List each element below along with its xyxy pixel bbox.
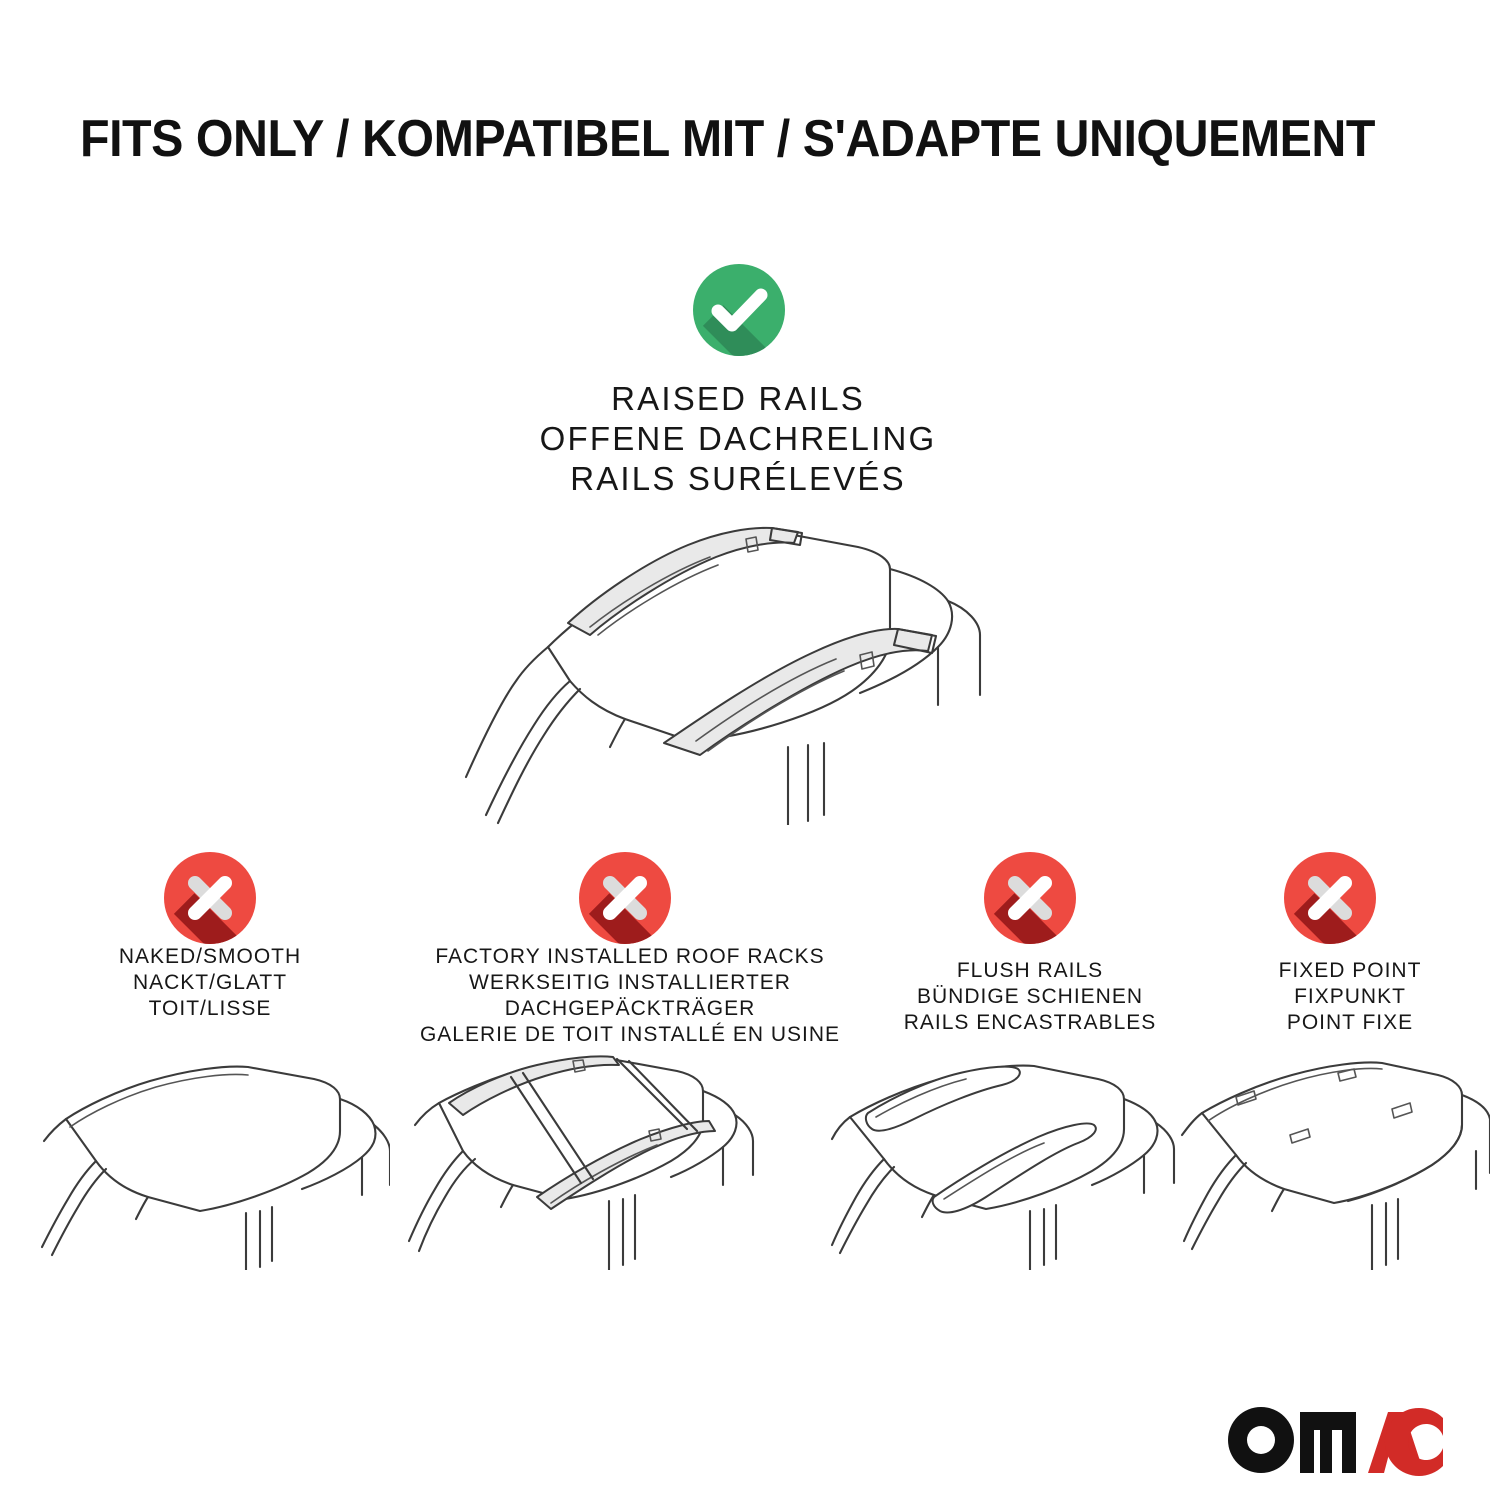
label-line: WERKSEITIG INSTALLIERTER bbox=[395, 970, 865, 996]
label-line: DACHGEPÄCKTRÄGER bbox=[395, 996, 865, 1022]
label-line: FIXPUNKT bbox=[1215, 984, 1485, 1010]
cross-circle-icon bbox=[984, 852, 1076, 944]
car-roof-fixed-point-drawing bbox=[1180, 1055, 1490, 1270]
incompatible-label-factory-roof-racks: FACTORY INSTALLED ROOF RACKS WERKSEITIG … bbox=[395, 944, 865, 1048]
compatible-label-line-1: RAISED RAILS bbox=[450, 379, 1026, 419]
label-line: FACTORY INSTALLED ROOF RACKS bbox=[395, 944, 865, 970]
page-title: FITS ONLY / KOMPATIBEL MIT / S'ADAPTE UN… bbox=[80, 108, 1326, 170]
label-line: FIXED POINT bbox=[1215, 958, 1485, 984]
label-line: TOIT/LISSE bbox=[30, 996, 390, 1022]
label-line: FLUSH RAILS bbox=[845, 958, 1215, 984]
cross-circle-icon bbox=[164, 852, 256, 944]
compatible-label-line-2: OFFENE DACHRELING bbox=[450, 419, 1026, 459]
label-line: POINT FIXE bbox=[1215, 1010, 1485, 1036]
label-line: RAILS ENCASTRABLES bbox=[845, 1010, 1215, 1036]
label-line: GALERIE DE TOIT INSTALLÉ EN USINE bbox=[395, 1022, 865, 1048]
check-circle-icon bbox=[693, 264, 785, 356]
cross-circle-icon bbox=[579, 852, 671, 944]
compatible-label: RAISED RAILS OFFENE DACHRELING RAILS SUR… bbox=[450, 379, 1026, 499]
cross-circle-icon bbox=[1284, 852, 1376, 944]
label-line: BÜNDIGE SCHIENEN bbox=[845, 984, 1215, 1010]
incompatible-label-fixed-point: FIXED POINT FIXPUNKT POINT FIXE bbox=[1215, 958, 1485, 1036]
car-roof-factory-roof-racks-drawing bbox=[405, 1055, 765, 1270]
compatible-label-line-3: RAILS SURÉLEVÉS bbox=[450, 459, 1026, 499]
fitment-infographic: FITS ONLY / KOMPATIBEL MIT / S'ADAPTE UN… bbox=[0, 0, 1500, 1500]
car-roof-naked-smooth-drawing bbox=[40, 1055, 390, 1270]
incompatible-label-naked-smooth: NAKED/SMOOTH NACKT/GLATT TOIT/LISSE bbox=[30, 944, 390, 1022]
omac-logo bbox=[1228, 1404, 1443, 1476]
label-line: NACKT/GLATT bbox=[30, 970, 390, 996]
car-roof-flush-rails-drawing bbox=[830, 1055, 1180, 1270]
car-roof-raised-rails-drawing bbox=[420, 505, 1080, 825]
label-line: NAKED/SMOOTH bbox=[30, 944, 390, 970]
incompatible-label-flush-rails: FLUSH RAILS BÜNDIGE SCHIENEN RAILS ENCAS… bbox=[845, 958, 1215, 1036]
